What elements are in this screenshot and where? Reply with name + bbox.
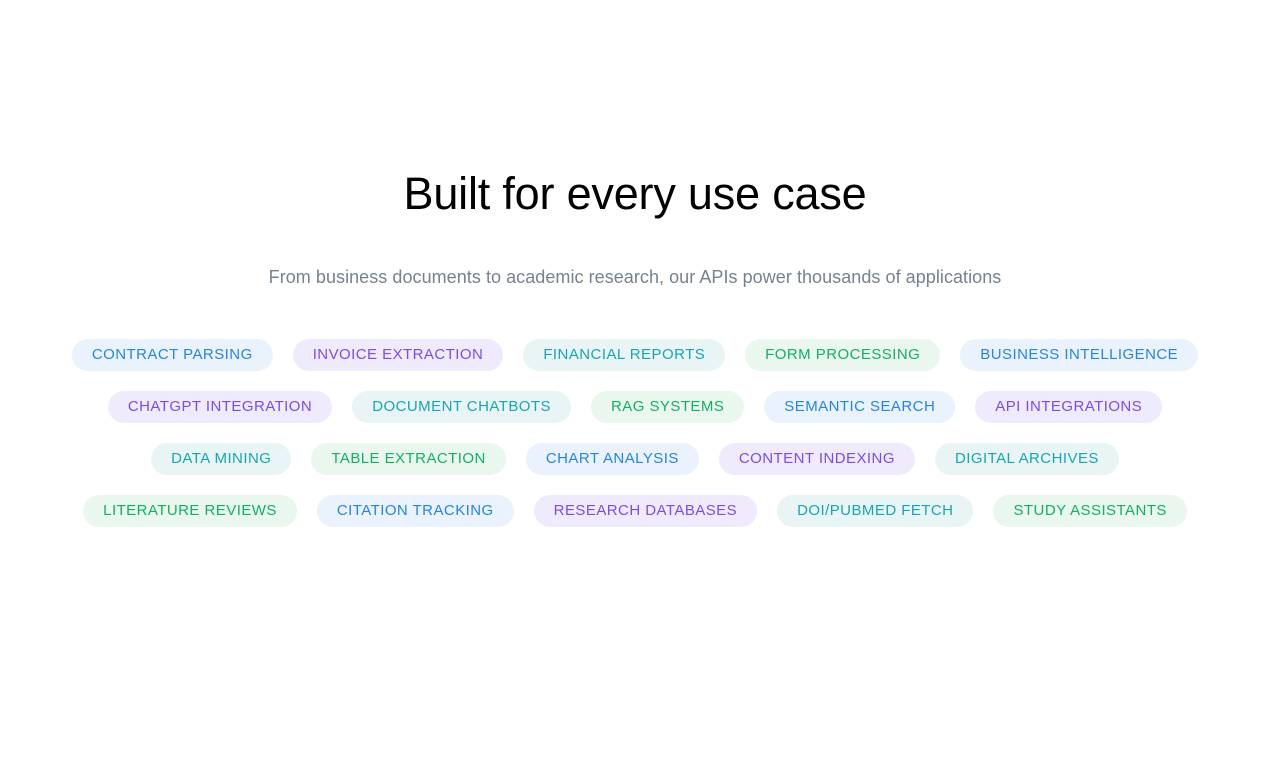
use-case-pill[interactable]: Chart Analysis	[526, 443, 699, 475]
use-case-pill[interactable]: Financial Reports	[523, 339, 725, 371]
use-case-pill[interactable]: Citation Tracking	[317, 495, 514, 527]
use-cases-page: Built for every use case From business d…	[0, 0, 1270, 760]
use-case-pill[interactable]: Study Assistants	[993, 495, 1186, 527]
page-title: Built for every use case	[404, 168, 867, 220]
use-case-pill[interactable]: Literature Reviews	[83, 495, 297, 527]
use-case-pill[interactable]: ChatGPT Integration	[108, 391, 332, 423]
use-case-pill[interactable]: Business Intelligence	[960, 339, 1198, 371]
use-case-pill[interactable]: Contract Parsing	[72, 339, 273, 371]
use-case-pill-row: Data MiningTable ExtractionChart Analysi…	[151, 443, 1119, 475]
use-case-pill-row: Literature ReviewsCitation TrackingResea…	[83, 495, 1187, 527]
use-case-pill[interactable]: Document Chatbots	[352, 391, 571, 423]
use-cases-section: Built for every use case From business d…	[0, 0, 1270, 527]
use-case-pill-row: ChatGPT IntegrationDocument ChatbotsRAG …	[108, 391, 1162, 423]
use-case-pill[interactable]: Content Indexing	[719, 443, 915, 475]
use-case-pill[interactable]: Invoice Extraction	[293, 339, 504, 371]
use-case-pill-row: Contract ParsingInvoice ExtractionFinanc…	[72, 339, 1198, 371]
use-case-pill[interactable]: Table Extraction	[311, 443, 505, 475]
use-case-pill-grid: Contract ParsingInvoice ExtractionFinanc…	[20, 290, 1250, 527]
use-case-pill[interactable]: Semantic Search	[764, 391, 955, 423]
use-case-pill[interactable]: DOI/PubMed Fetch	[777, 495, 973, 527]
use-case-pill[interactable]: Data Mining	[151, 443, 291, 475]
use-case-pill[interactable]: Research Databases	[534, 495, 757, 527]
use-case-pill[interactable]: Form Processing	[745, 339, 940, 371]
use-case-pill[interactable]: RAG Systems	[591, 391, 744, 423]
page-subtitle: From business documents to academic rese…	[269, 220, 1002, 290]
use-case-pill[interactable]: Digital Archives	[935, 443, 1119, 475]
use-case-pill[interactable]: API Integrations	[975, 391, 1162, 423]
